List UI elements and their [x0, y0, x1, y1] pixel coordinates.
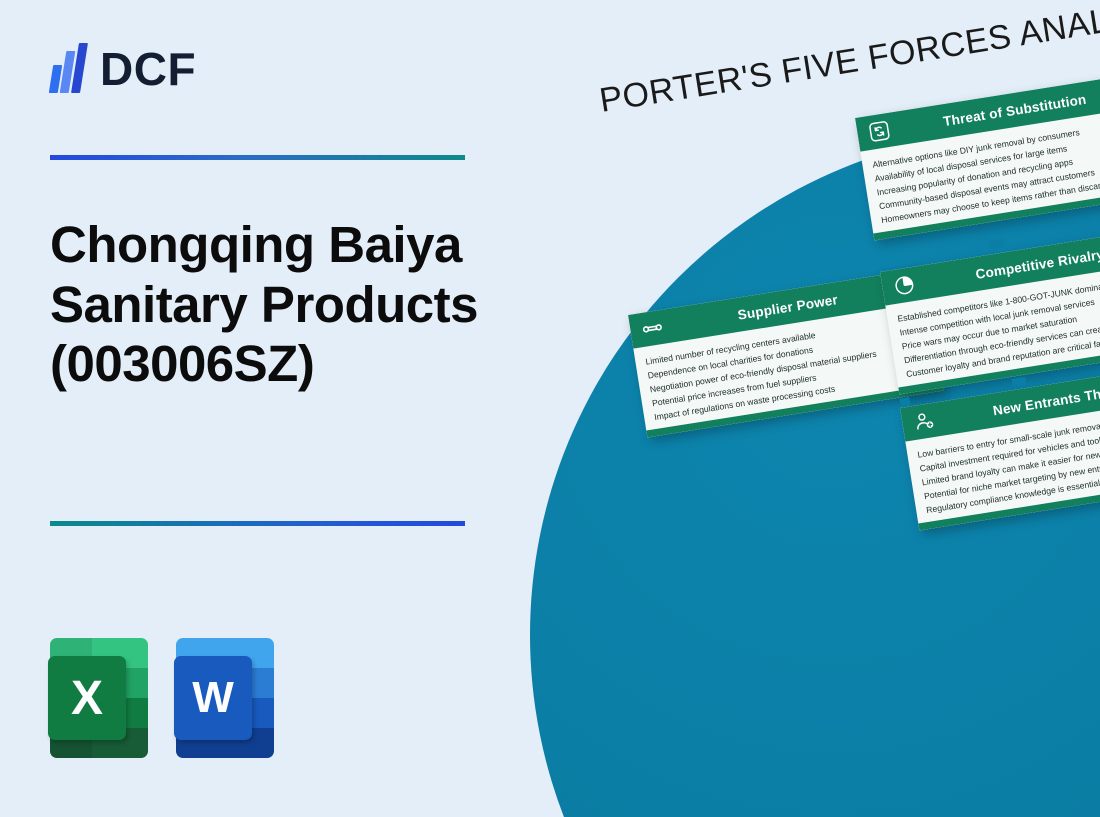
dcf-logo[interactable]: DCF — [50, 42, 196, 96]
word-file-icon[interactable]: W — [174, 638, 274, 758]
divider-bottom — [50, 521, 465, 526]
add-user-icon — [911, 408, 938, 435]
divider-top — [50, 155, 465, 160]
left-info-panel: DCF Chongqing Baiya Sanitary Products (0… — [0, 0, 540, 817]
word-badge-letter: W — [174, 656, 252, 740]
excel-badge-letter: X — [48, 656, 126, 740]
page-title: Chongqing Baiya Sanitary Products (00300… — [50, 215, 520, 394]
pie-chart-icon — [891, 272, 918, 299]
link-chain-icon — [639, 315, 666, 342]
slide-canvas: PORTER'S FIVE FORCES ANALYSIS Threat of … — [0, 0, 1100, 817]
refresh-cycle-icon — [866, 118, 893, 145]
logo-wordmark: DCF — [100, 42, 196, 96]
excel-file-icon[interactable]: X — [48, 638, 148, 758]
bar-chart-logo-icon — [50, 43, 90, 95]
card-connector — [899, 397, 910, 406]
download-icons: X W — [48, 638, 274, 758]
